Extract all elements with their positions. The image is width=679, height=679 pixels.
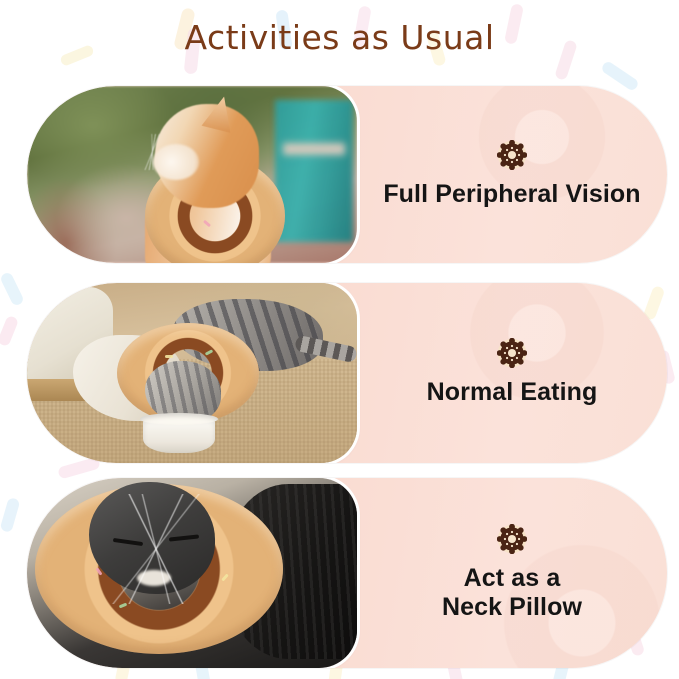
sprinkle <box>0 497 20 533</box>
sprinkle <box>0 271 25 307</box>
panel-2-label: Normal Eating <box>427 378 598 407</box>
feature-panel-2: Normal Eating <box>27 283 667 463</box>
feature-panel-1: Full Peripheral Vision <box>27 86 667 263</box>
cat-whiskers <box>123 134 183 170</box>
panel-1-photo <box>27 86 357 263</box>
panel-2-photo <box>27 283 357 463</box>
sprinkle <box>0 315 19 347</box>
glaze-sprinkle <box>165 355 173 358</box>
donut-icon <box>497 140 527 170</box>
panel-3-photo <box>27 478 357 668</box>
panel-3-label: Act as a Neck Pillow <box>442 564 582 623</box>
page-title: Activities as Usual <box>0 18 679 57</box>
feature-panel-3: Act as a Neck Pillow <box>27 478 667 668</box>
teal-chair <box>275 100 353 242</box>
donut-icon <box>497 338 527 368</box>
panel-1-label: Full Peripheral Vision <box>383 180 640 209</box>
panel-1-feature: Full Peripheral Vision <box>357 86 667 263</box>
cat-whiskers <box>61 494 251 604</box>
food-bowl <box>143 417 215 453</box>
donut-icon <box>497 524 527 554</box>
infographic-canvas: Activities as Usual <box>0 0 679 679</box>
panel-2-feature: Normal Eating <box>357 283 667 463</box>
panel-3-feature: Act as a Neck Pillow <box>357 478 667 668</box>
